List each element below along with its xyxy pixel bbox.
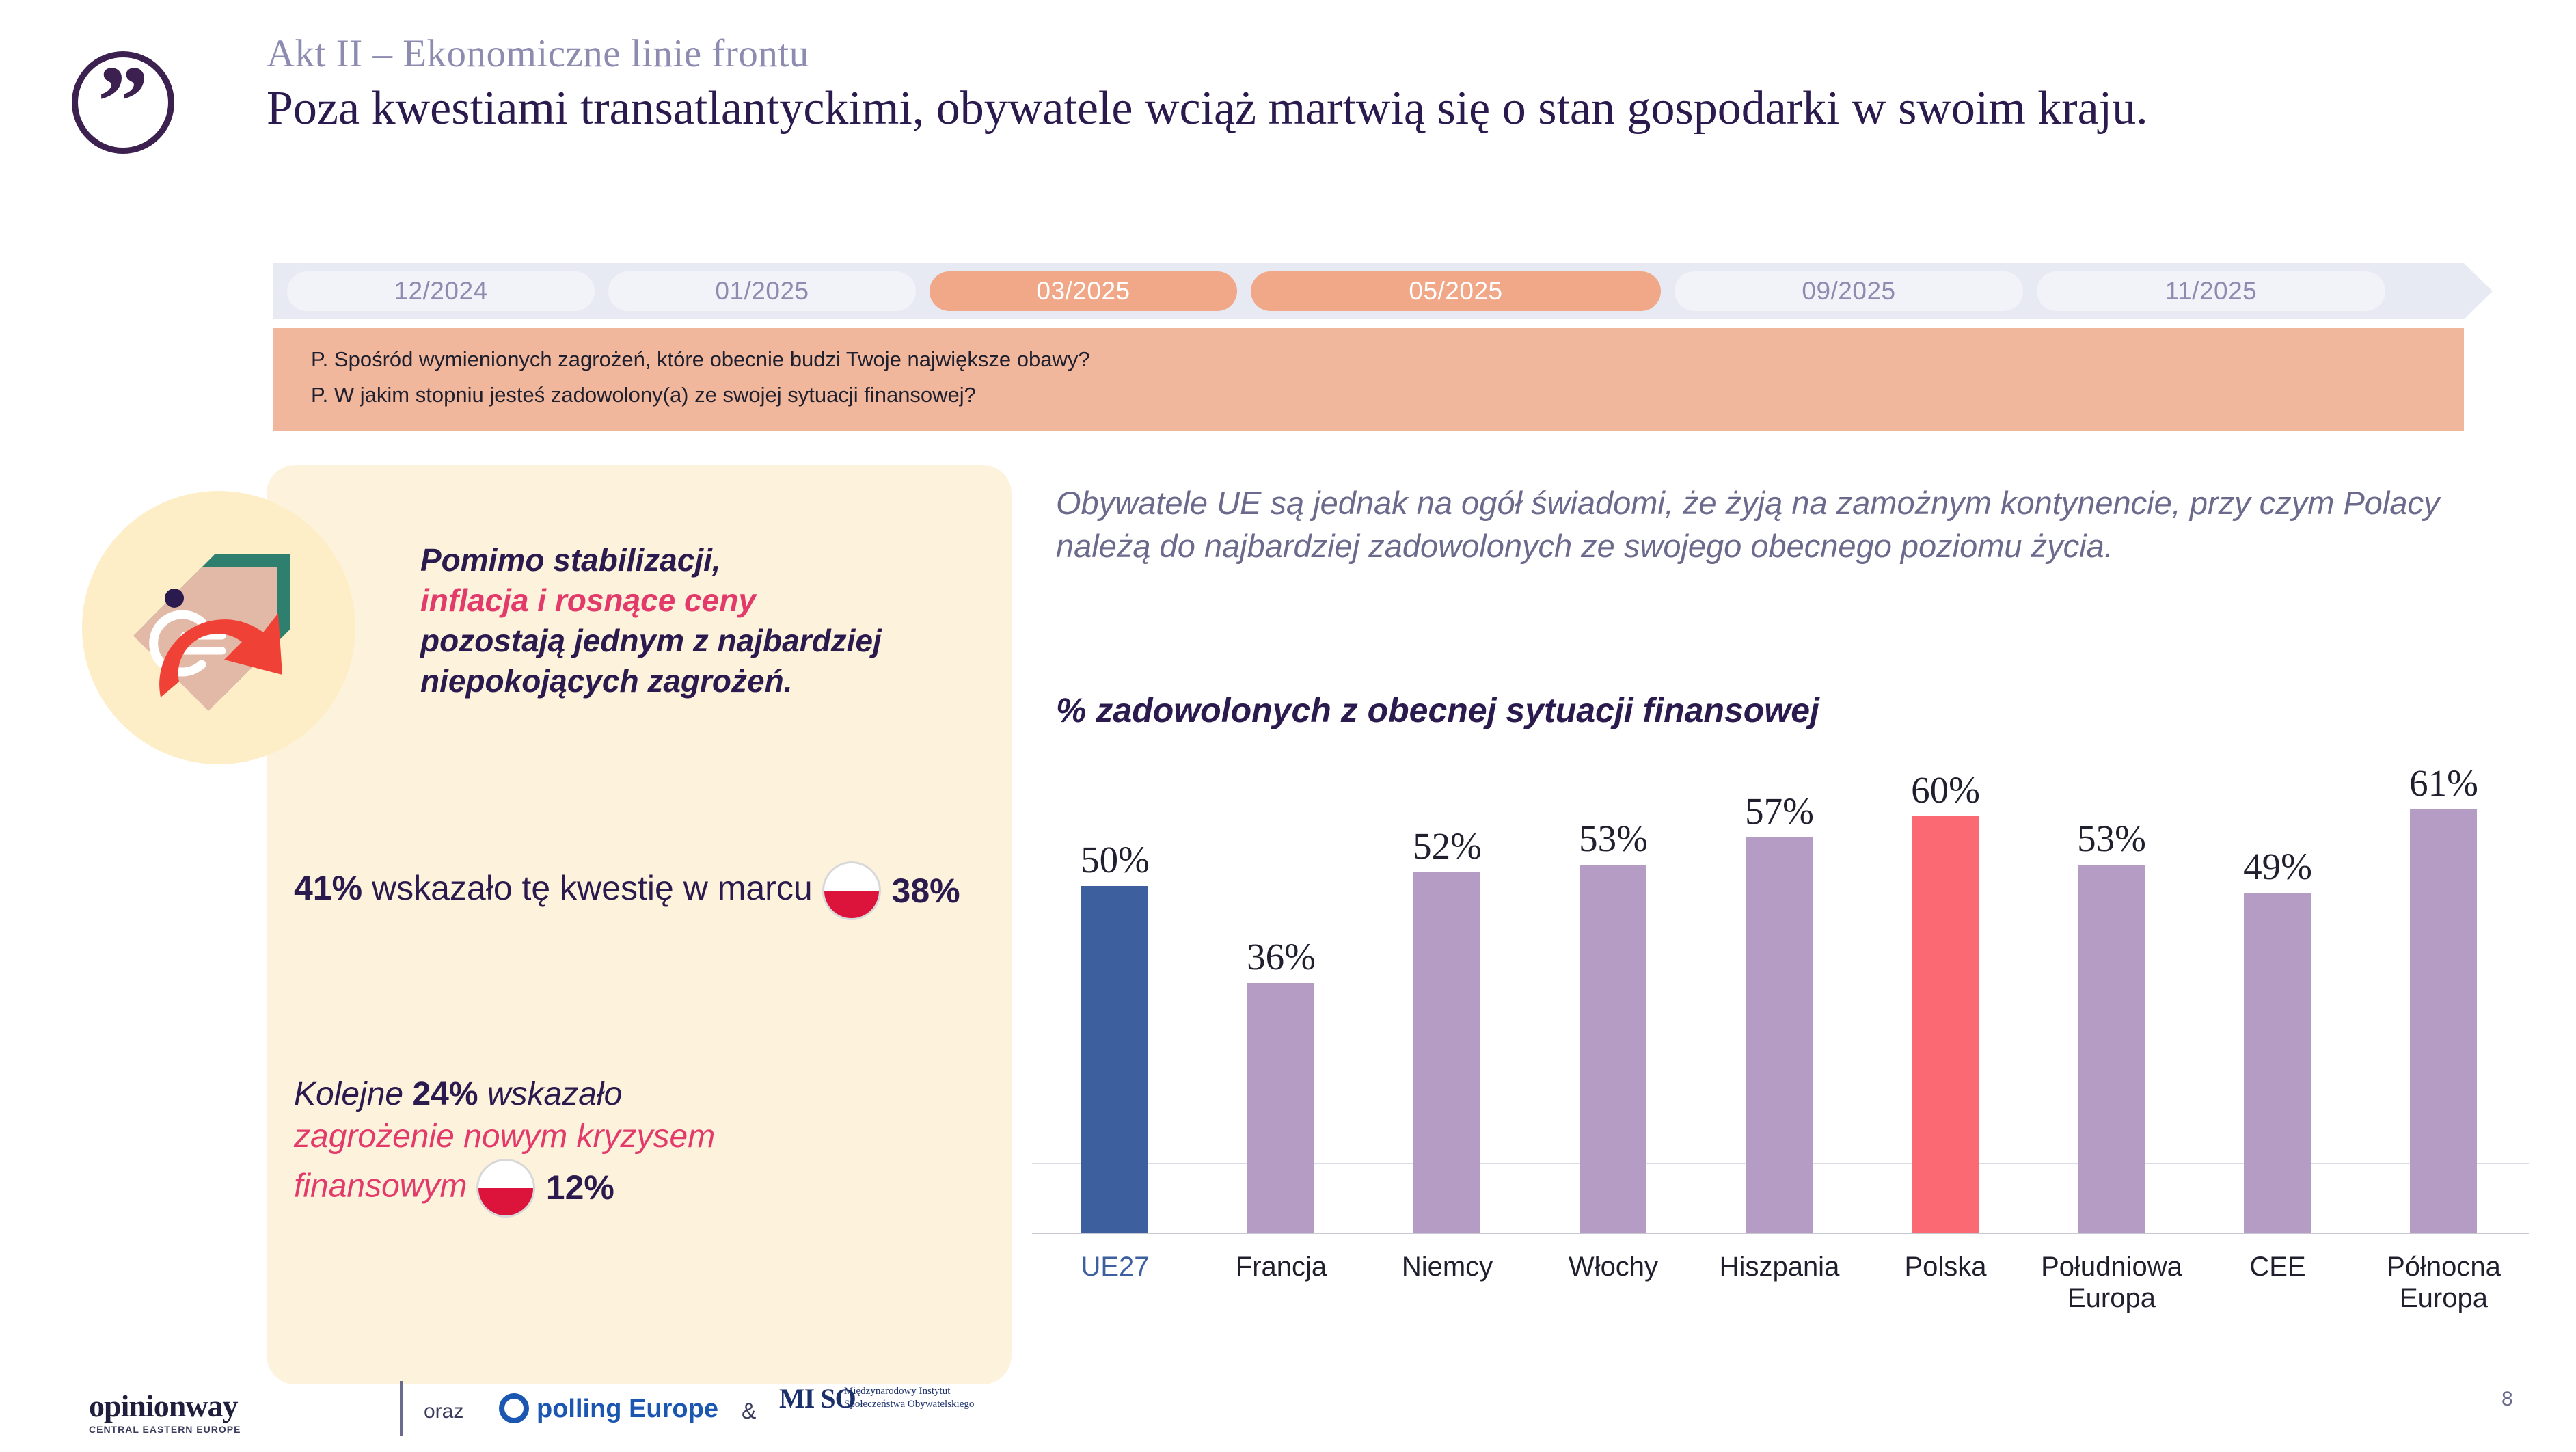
callout-line-2: pozostają jednym z najbardziej niepokoją… (420, 623, 882, 699)
x-label-ue27: UE27 (1032, 1251, 1198, 1282)
stat-1-flag-value: 38% (892, 872, 960, 910)
bar-value-label: 60% (1862, 768, 2029, 811)
oraz-label: oraz (424, 1400, 463, 1423)
timeline-item-label: 09/2025 (1802, 277, 1895, 306)
price-tag-icon (120, 540, 325, 711)
bar-niemcy[interactable] (1413, 872, 1480, 1233)
question-band: P. Spośród wymienionych zagrożeń, które … (273, 328, 2464, 431)
opinionway-logo-text: opinionway (89, 1388, 238, 1423)
poland-flag-icon (822, 861, 881, 920)
x-label-południowa-europa: Południowa Europa (2029, 1251, 2195, 1314)
bar-value-label: 52% (1364, 824, 1530, 868)
bar-włochy[interactable] (1580, 865, 1646, 1233)
left-callout-text: Pomimo stabilizacji, inflacja i rosnące … (420, 540, 974, 701)
timeline-item-05-2025[interactable]: 05/2025 (1251, 271, 1661, 311)
quote-badge-icon: ” (72, 51, 174, 154)
x-label-polska: Polska (1862, 1251, 2029, 1282)
bar-hiszpania[interactable] (1746, 837, 1813, 1233)
timeline-item-label: 11/2025 (2165, 277, 2258, 306)
question-1: P. Spośród wymienionych zagrożeń, które … (311, 347, 1090, 372)
polling-europe-logo: polling Europe (537, 1395, 718, 1424)
stat-line-2: Kolejne 24% wskazało zagrożenie nowym kr… (294, 1073, 977, 1218)
divider (400, 1381, 403, 1436)
stat-2-line3: finansowym (294, 1168, 467, 1204)
bar-ue27[interactable] (1081, 886, 1148, 1233)
x-label-cee: CEE (2195, 1251, 2361, 1282)
bar-value-label: 61% (2361, 762, 2527, 805)
timeline-item-label: 01/2025 (715, 277, 809, 306)
bar-cee[interactable] (2244, 893, 2311, 1233)
bar-północna-europa[interactable] (2410, 809, 2477, 1233)
bar-value-label: 53% (1530, 817, 1696, 860)
quote-glyph: ” (78, 57, 168, 146)
opinionway-logo: opinionway CENTRAL EASTERN EUROPE (89, 1388, 241, 1435)
stat-2-word: Kolejne (294, 1076, 403, 1112)
x-label-niemcy: Niemcy (1364, 1251, 1530, 1282)
x-label-północna-europa: Północna Europa (2361, 1251, 2527, 1314)
bar-value-label: 57% (1696, 790, 1862, 833)
stat-1-value: 41% (294, 869, 362, 907)
callout-line-pink: inflacja i rosnące ceny (420, 582, 756, 618)
timeline-item-09-2025[interactable]: 09/2025 (1675, 271, 2023, 311)
poland-flag-icon (476, 1159, 535, 1218)
page-title: Poza kwestiami transatlantyckimi, obywat… (267, 81, 2522, 136)
bar-value-label: 53% (2029, 817, 2195, 860)
timeline-item-11-2025[interactable]: 11/2025 (2037, 271, 2385, 311)
polling-europe-icon (499, 1393, 529, 1423)
timeline-item-label: 03/2025 (1036, 277, 1130, 306)
timeline-item-03-2025[interactable]: 03/2025 (930, 271, 1237, 311)
timeline-item-12-2024[interactable]: 12/2024 (287, 271, 595, 311)
miso-logo-sub: Międzynarodowy Instytut Społeczeństwa Ob… (844, 1385, 977, 1411)
ampersand-label: & (742, 1399, 756, 1424)
timeline-item-label: 05/2025 (1409, 277, 1502, 306)
bar-series: 50%36%52%53%57%60%53%49%61% (1032, 749, 2529, 1234)
timeline-item-label: 12/2024 (394, 277, 487, 306)
act-label: Akt II – Ekonomiczne linie frontu (267, 31, 809, 76)
bar-value-label: 49% (2195, 845, 2361, 888)
bar-chart: 50%36%52%53%57%60%53%49%61% (1032, 749, 2529, 1234)
stat-2-flag-value: 12% (546, 1168, 614, 1207)
bar-polska[interactable] (1912, 816, 1979, 1233)
timeline-arrow-icon (2464, 263, 2493, 319)
bar-value-label: 50% (1032, 838, 1198, 881)
x-label-włochy: Włochy (1530, 1251, 1696, 1282)
chart-title: % zadowolonych z obecnej sytuacji finans… (1056, 690, 1819, 730)
stat-2-line2a: zagrożenie (294, 1118, 455, 1155)
x-label-hiszpania: Hiszpania (1696, 1251, 1862, 1282)
page-number: 8 (2502, 1388, 2513, 1411)
bar-value-label: 36% (1198, 935, 1364, 978)
bar-francja[interactable] (1247, 983, 1314, 1233)
x-axis-labels: UE27FrancjaNiemcyWłochyHiszpaniaPolskaPo… (1032, 1251, 2529, 1374)
stat-2-line2b: nowym kryzysem (463, 1118, 715, 1155)
callout-line-1: Pomimo stabilizacji, (420, 542, 721, 578)
opinionway-logo-sub: CENTRAL EASTERN EUROPE (89, 1424, 241, 1435)
stat-1-text: wskazało tę kwestię w marcu (372, 869, 813, 907)
intro-paragraph: Obywatele UE są jednak na ogół świadomi,… (1056, 482, 2478, 567)
footer-logos: opinionway CENTRAL EASTERN EUROPE oraz p… (89, 1381, 977, 1442)
stat-2-value: 24% (412, 1076, 478, 1112)
stat-line-1: 41% wskazało tę kwestię w marcu 38% (294, 861, 977, 920)
bar-południowa-europa[interactable] (2078, 865, 2145, 1233)
stat-2-text: wskazało (487, 1076, 622, 1112)
question-2: P. W jakim stopniu jesteś zadowolony(a) … (311, 383, 976, 407)
timeline-item-01-2025[interactable]: 01/2025 (608, 271, 916, 311)
x-label-francja: Francja (1198, 1251, 1364, 1282)
